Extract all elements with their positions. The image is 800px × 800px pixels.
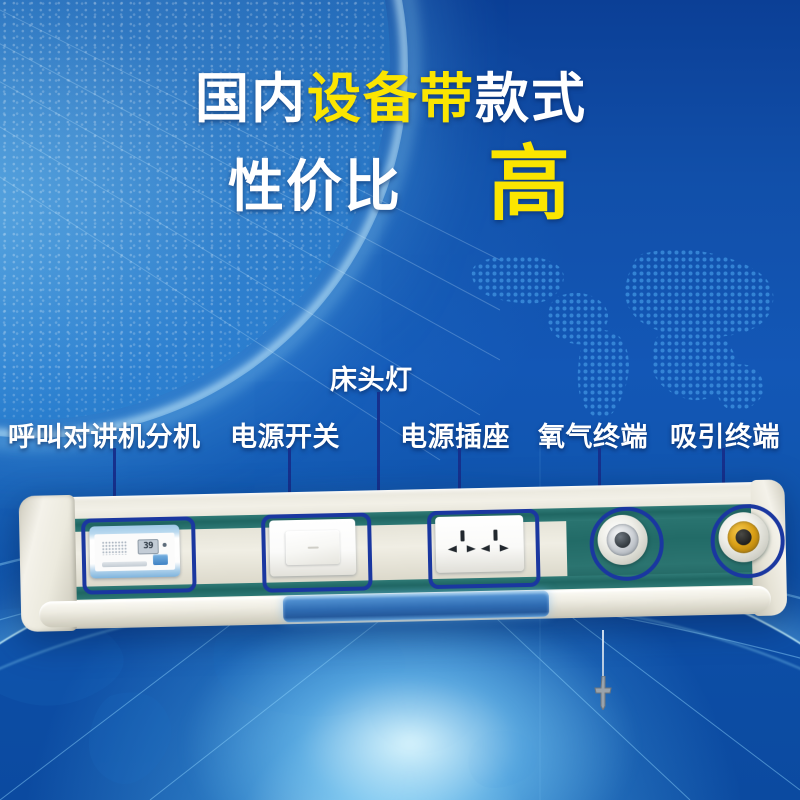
banner-canvas: 国内设备带款式 性价比高 呼叫对讲机分机 电源开关 床头灯 电源插座 氧气终端 … [0, 0, 800, 800]
headline-part-1: 国内 [195, 69, 307, 129]
callout-label-oxygen: 氧气终端 [538, 415, 648, 454]
callout-label-bedlamp: 床头灯 [330, 358, 413, 397]
headline-part-2: 设备带 [307, 69, 475, 129]
highlight-frame-intercom [81, 516, 197, 594]
dotted-world-map [470, 235, 800, 445]
callout-label-socket: 电源插座 [400, 415, 510, 454]
headline-line-1: 国内设备带款式 [0, 72, 800, 126]
headline-part-5: 高 [488, 139, 572, 230]
continent-silhouettes [0, 600, 610, 800]
medical-bed-head-panel: 39 [21, 481, 786, 630]
callout-label-switch: 电源开关 [230, 415, 340, 454]
headline-block: 国内设备带款式 性价比高 [0, 72, 800, 226]
headline-line-2: 性价比高 [0, 144, 800, 226]
callout-label-intercom: 呼叫对讲机分机 [8, 415, 201, 454]
headline-part-3: 款式 [475, 69, 587, 129]
callout-label-suction: 吸引终端 [670, 415, 780, 454]
pull-cord-connector-icon [588, 676, 618, 710]
horizon-glow [180, 600, 640, 800]
highlight-frame-switch [261, 512, 373, 592]
headline-part-4: 性价比 [228, 155, 402, 218]
highlight-frame-socket [427, 509, 541, 589]
